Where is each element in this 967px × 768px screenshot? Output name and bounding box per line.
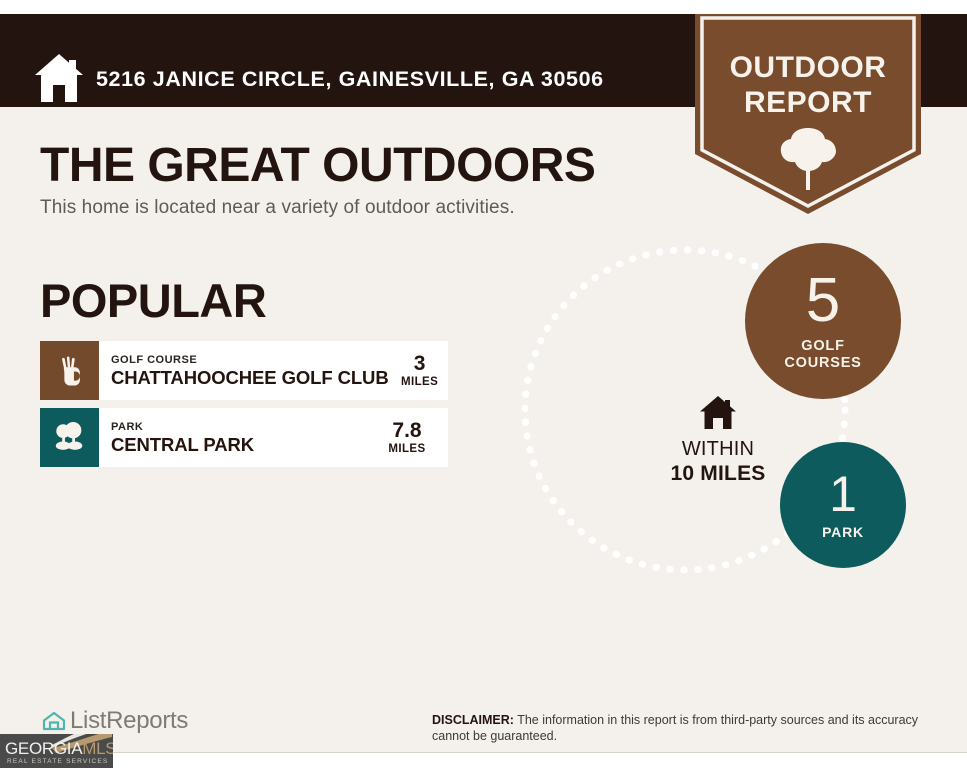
radius-line2: 10 MILES [638, 461, 798, 486]
list-reports-house-icon [41, 708, 67, 734]
home-icon [31, 52, 87, 104]
outdoor-report-page: 5216 JANICE CIRCLE, GAINESVILLE, GA 3050… [0, 0, 967, 768]
footer-white-strip [0, 753, 967, 768]
list-item-distance: 3 MILES [389, 341, 461, 400]
golf-bag-icon [40, 341, 99, 400]
distance-unit: MILES [401, 375, 438, 389]
outdoor-report-banner: OUTDOOR REPORT [695, 14, 921, 214]
list-item-name: CHATTAHOOCHEE GOLF CLUB [111, 367, 389, 389]
proximity-visualization: WITHIN 10 MILES 5 GOLF COURSES 1 PARK [520, 245, 960, 635]
top-white-strip [0, 0, 967, 14]
list-item-text: PARK CENTRAL PARK [99, 408, 376, 467]
list-item[interactable]: PARK CENTRAL PARK 7.8 MILES [40, 408, 448, 467]
banner-title-line1: OUTDOOR [695, 51, 921, 85]
watermark-brand-primary: GEORGIA [5, 739, 82, 758]
disclaimer-label: DISCLAIMER: [432, 713, 514, 727]
bubble-label-line1: PARK [822, 524, 864, 541]
watermark-brand-secondary: MLS [82, 739, 113, 758]
list-item-text: GOLF COURSE CHATTAHOOCHEE GOLF CLUB [99, 341, 389, 400]
list-item-category: PARK [111, 420, 376, 434]
page-title: THE GREAT OUTDOORS [40, 138, 595, 193]
distance-unit: MILES [388, 442, 425, 456]
listreports-wordmark: ListReports [70, 707, 188, 735]
count-bubble-golf-courses[interactable]: 5 GOLF COURSES [745, 243, 901, 399]
bubble-label-line1: GOLF [801, 338, 844, 355]
property-address: 5216 JANICE CIRCLE, GAINESVILLE, GA 3050… [96, 67, 604, 92]
distance-value: 7.8 [392, 420, 421, 442]
trees-icon [40, 408, 99, 467]
tree-icon [778, 126, 838, 192]
list-item-category: GOLF COURSE [111, 353, 389, 367]
listreports-logo[interactable]: ListReports [41, 707, 188, 735]
banner-title-line2: REPORT [695, 86, 921, 120]
disclaimer: DISCLAIMER: The information in this repo… [432, 712, 932, 744]
bubble-count: 1 [829, 469, 857, 519]
radius-line1: WITHIN [638, 437, 798, 461]
watermark-brand: GEORGIAMLS [5, 739, 113, 758]
count-bubble-parks[interactable]: 1 PARK [780, 442, 906, 568]
page-subtitle: This home is located near a variety of o… [40, 197, 515, 219]
radius-center-label: WITHIN 10 MILES [638, 395, 798, 486]
bubble-count: 5 [806, 270, 840, 332]
home-icon [698, 395, 738, 431]
popular-list: GOLF COURSE CHATTAHOOCHEE GOLF CLUB 3 MI… [40, 341, 448, 475]
distance-value: 3 [414, 353, 426, 375]
bubble-label-line2: COURSES [784, 355, 861, 372]
list-item-name: CENTRAL PARK [111, 434, 376, 456]
section-title-popular: POPULAR [40, 273, 266, 328]
georgia-mls-watermark: GEORGIAMLS REAL ESTATE SERVICES [0, 734, 113, 768]
watermark-tagline: REAL ESTATE SERVICES [7, 758, 108, 765]
list-item[interactable]: GOLF COURSE CHATTAHOOCHEE GOLF CLUB 3 MI… [40, 341, 448, 400]
list-item-distance: 7.8 MILES [376, 408, 448, 467]
